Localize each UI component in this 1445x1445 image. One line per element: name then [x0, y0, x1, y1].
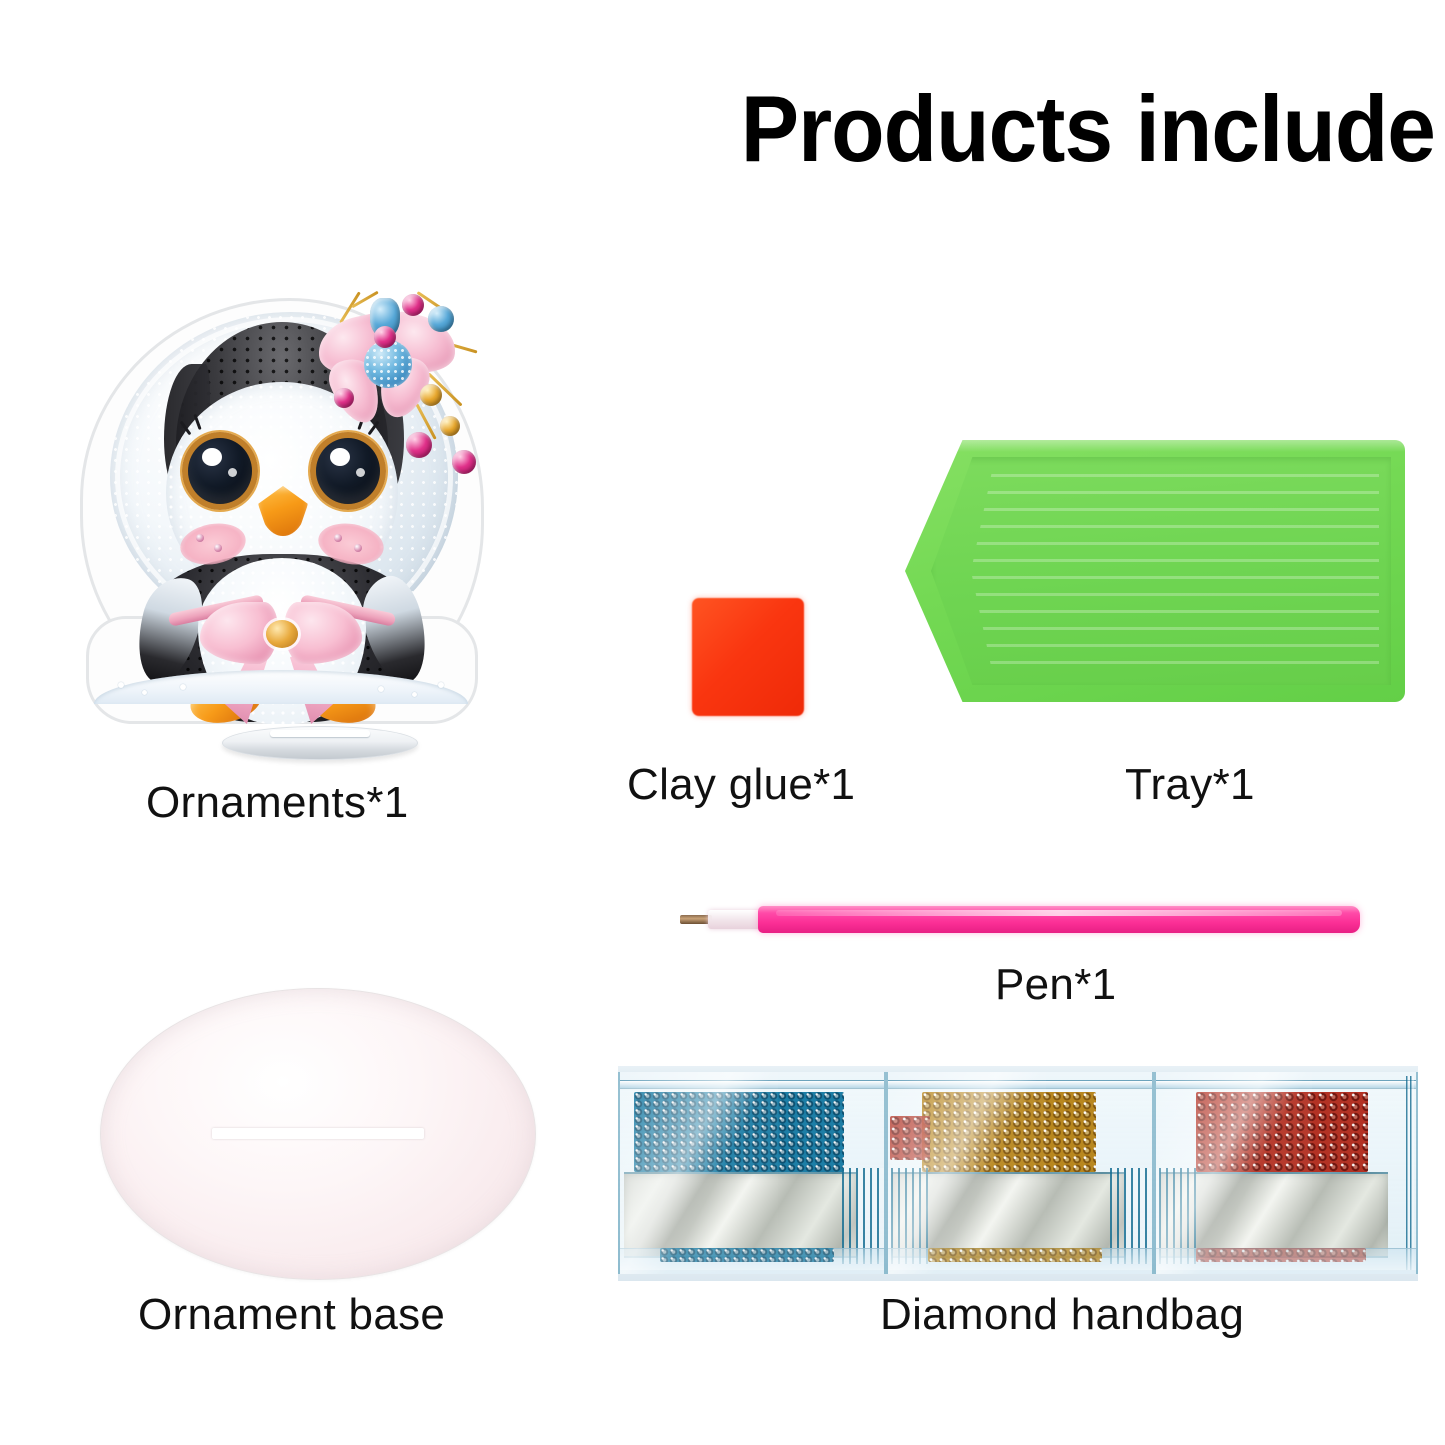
- blush-gem: [334, 534, 342, 542]
- bag-top-seal: [888, 1080, 1152, 1089]
- hair-gem-pink-left: [334, 388, 354, 408]
- eye-glint-small: [228, 468, 237, 477]
- bag-bottom-seal: [1156, 1248, 1416, 1270]
- clay-glue-square: [692, 598, 804, 716]
- caption-diamond-handbag: Diamond handbag: [880, 1290, 1244, 1340]
- hair-gem-gold-2: [440, 416, 460, 436]
- caption-ornaments: Ornaments*1: [146, 778, 409, 828]
- product-include-poster: Products include: [0, 0, 1445, 1445]
- diamond-handbag-group: [618, 1066, 1418, 1281]
- penguin-eye-left: [182, 432, 258, 510]
- caption-clay-glue: Clay glue*1: [627, 760, 855, 810]
- penguin-hair-bow-group: [310, 292, 500, 482]
- penguin-bow-knot-gem: [266, 620, 298, 648]
- snow-sparkle: [412, 692, 417, 697]
- page-title: Products include: [654, 82, 1435, 176]
- ornament-stand-slot: [270, 730, 370, 737]
- bag-beads-gold: [922, 1092, 1096, 1172]
- blush-gem: [196, 534, 204, 542]
- pen-clear-collar: [708, 910, 764, 929]
- hair-gem-pink-lower: [406, 432, 432, 458]
- bag-right-edge-seam: [1406, 1076, 1414, 1270]
- drill-pen: [680, 900, 1360, 940]
- caption-pen: Pen*1: [995, 960, 1116, 1010]
- rhinestone-bag: [1154, 1072, 1418, 1274]
- snow-sparkle: [142, 690, 147, 695]
- ornament-illustration: [72, 286, 492, 756]
- bag-bottom-seal: [620, 1248, 884, 1270]
- hair-gem-blue-right: [428, 306, 454, 332]
- snow-sparkle: [378, 686, 384, 692]
- rhinestone-bag: [886, 1072, 1154, 1274]
- diamond-tray: [905, 440, 1405, 702]
- eye-glint-large: [202, 448, 222, 466]
- snow-sparkle: [118, 682, 124, 688]
- snow-sparkle: [438, 682, 444, 688]
- bag-bottom-beads: [928, 1248, 1102, 1262]
- bag-bottom-beads: [1196, 1248, 1366, 1262]
- bag-beads-red: [1196, 1092, 1368, 1172]
- bag-beads-red-edge: [890, 1116, 930, 1160]
- ornament-base-slot: [212, 1128, 424, 1139]
- bag-top-seal: [1156, 1080, 1416, 1089]
- tray-grooves: [971, 474, 1379, 668]
- bag-foil-label: [624, 1172, 856, 1258]
- bag-bottom-beads: [660, 1248, 834, 1262]
- blush-gem: [354, 544, 362, 552]
- tray-rim-highlight: [905, 440, 1405, 452]
- hair-gem-pink-lowest: [452, 450, 476, 474]
- rhinestone-bag: [618, 1072, 886, 1274]
- snow-sparkle: [180, 684, 186, 690]
- hair-gem-gold-1: [420, 384, 442, 406]
- hair-gem-pink-top: [402, 294, 424, 316]
- bag-bottom-seal: [888, 1248, 1152, 1270]
- pen-highlight: [776, 910, 1342, 916]
- bag-beads-blue: [634, 1092, 844, 1172]
- bag-top-seal: [620, 1080, 884, 1089]
- caption-ornament-base: Ornament base: [138, 1290, 445, 1340]
- hair-gem-pink-inner: [374, 326, 396, 348]
- caption-tray: Tray*1: [1125, 760, 1255, 810]
- blush-gem: [214, 544, 222, 552]
